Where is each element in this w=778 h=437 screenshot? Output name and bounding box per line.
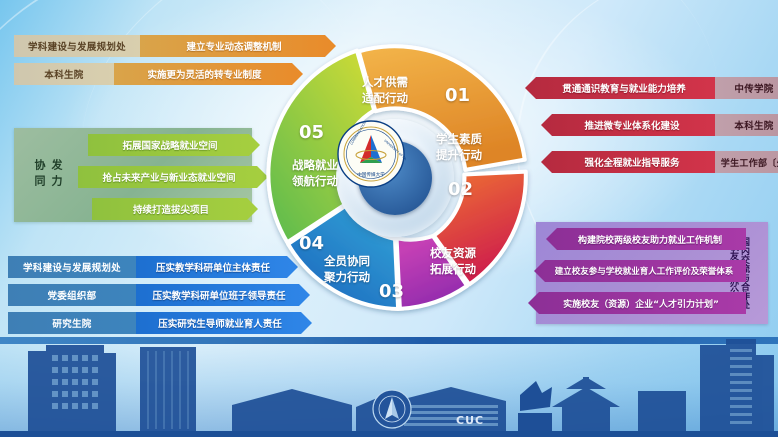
purple-row-3[interactable]: 实施校友（资源）企业“人才引力计划” [528,292,746,314]
cuc-emblem-building [373,390,411,428]
blue-row-3-tag: 研究生院 [8,312,136,334]
purple-row-2[interactable]: 建立校友参与学校就业育人工作评价及荣誉体系 [534,260,746,282]
segment-03-label: 校友资源 拓展行动 [401,246,505,277]
red-row-2-tag: 本科生院 [715,114,778,136]
red-row-1-text: 贯通通识教育与就业能力培养 [525,77,715,99]
infographic-canvas: 学科建设与发展规划处 建立专业动态调整机制 本科生院 实施更为灵活的转专业制度 … [0,0,778,437]
red-row-1[interactable]: 贯通通识教育与就业能力培养 中传学院 [525,77,778,99]
segment-02-line2: 提升行动 [436,148,482,162]
segment-05-line2: 领航行动 [292,174,338,188]
segment-01-line2: 适配行动 [362,91,408,105]
purple-row-1[interactable]: 构建院校两级校友助力就业工作机制 [546,228,746,250]
segment-02-line1: 学生素质 [436,132,482,146]
skyline-silhouette [0,337,778,437]
purple-row-2-text: 建立校友参与学校就业育人工作评价及荣誉体系 [534,260,746,282]
blue-row-1-tag: 学科建设与发展规划处 [8,256,136,278]
green-row-1[interactable]: 拓展国家战略就业空间 [88,134,260,156]
green-row-2-text: 抢占未来产业与新业态就业空间 [78,166,268,188]
green-vlabel-col-2: 发力 [51,159,62,191]
red-row-1-tag: 中传学院 [715,77,778,99]
segment-01-number: 01 [445,85,470,106]
segment-05-line1: 战略就业 [292,158,338,172]
segment-04-number: 04 [299,233,324,254]
green-row-2[interactable]: 抢占未来产业与新业态就业空间 [78,166,268,188]
central-wheel: 中国传媒大学 COMMUNICATION UNIVERSITY OF CHINA… [255,38,535,318]
purple-row-1-text: 构建院校两级校友助力就业工作机制 [546,228,746,250]
red-row-3[interactable]: 强化全程就业指导服务 学生工作部〔处〕 [541,151,778,173]
green-row-1-text: 拓展国家战略就业空间 [88,134,260,156]
segment-02-label: 学生素质 提升行动 [405,132,513,163]
segment-04-line2: 聚力行动 [324,270,370,284]
red-row-3-text: 强化全程就业指导服务 [541,151,715,173]
purple-row-3-text: 实施校友（资源）企业“人才引力计划” [528,292,746,314]
blue-row-2-tag: 党委组织部 [8,284,136,306]
skyline-baseline [0,431,778,437]
red-row-2[interactable]: 推进微专业体系化建设 本科生院 [541,114,778,136]
campus-skyline: CUC [0,337,778,437]
segment-02-number: 02 [448,179,473,200]
segment-01-line1: 人才供需 [362,75,408,89]
segment-01-label: 人才供需 适配行动 [331,75,439,106]
orange-row-2-tag: 本科生院 [14,63,114,85]
group-green-vertical-label: 协同 发力 [20,136,76,214]
skyline-cuc-label: CUC [456,414,484,427]
segment-04-label: 全员协同 聚力行动 [295,254,399,285]
segment-04-line1: 全员协同 [324,254,370,268]
red-row-2-text: 推进微专业体系化建设 [541,114,715,136]
segment-05-number: 05 [299,122,324,143]
orange-row-1-tag: 学科建设与发展规划处 [14,35,140,57]
green-row-3[interactable]: 持续打造拔尖项目 [92,198,258,220]
red-row-3-tag: 学生工作部〔处〕 [715,151,778,173]
segment-03-line1: 校友资源 [430,246,476,260]
green-vlabel-col-1: 协同 [34,159,45,191]
segment-05-label: 战略就业 领航行动 [263,158,367,189]
segment-03-line2: 拓展行动 [430,262,476,276]
green-row-3-text: 持续打造拔尖项目 [92,198,258,220]
